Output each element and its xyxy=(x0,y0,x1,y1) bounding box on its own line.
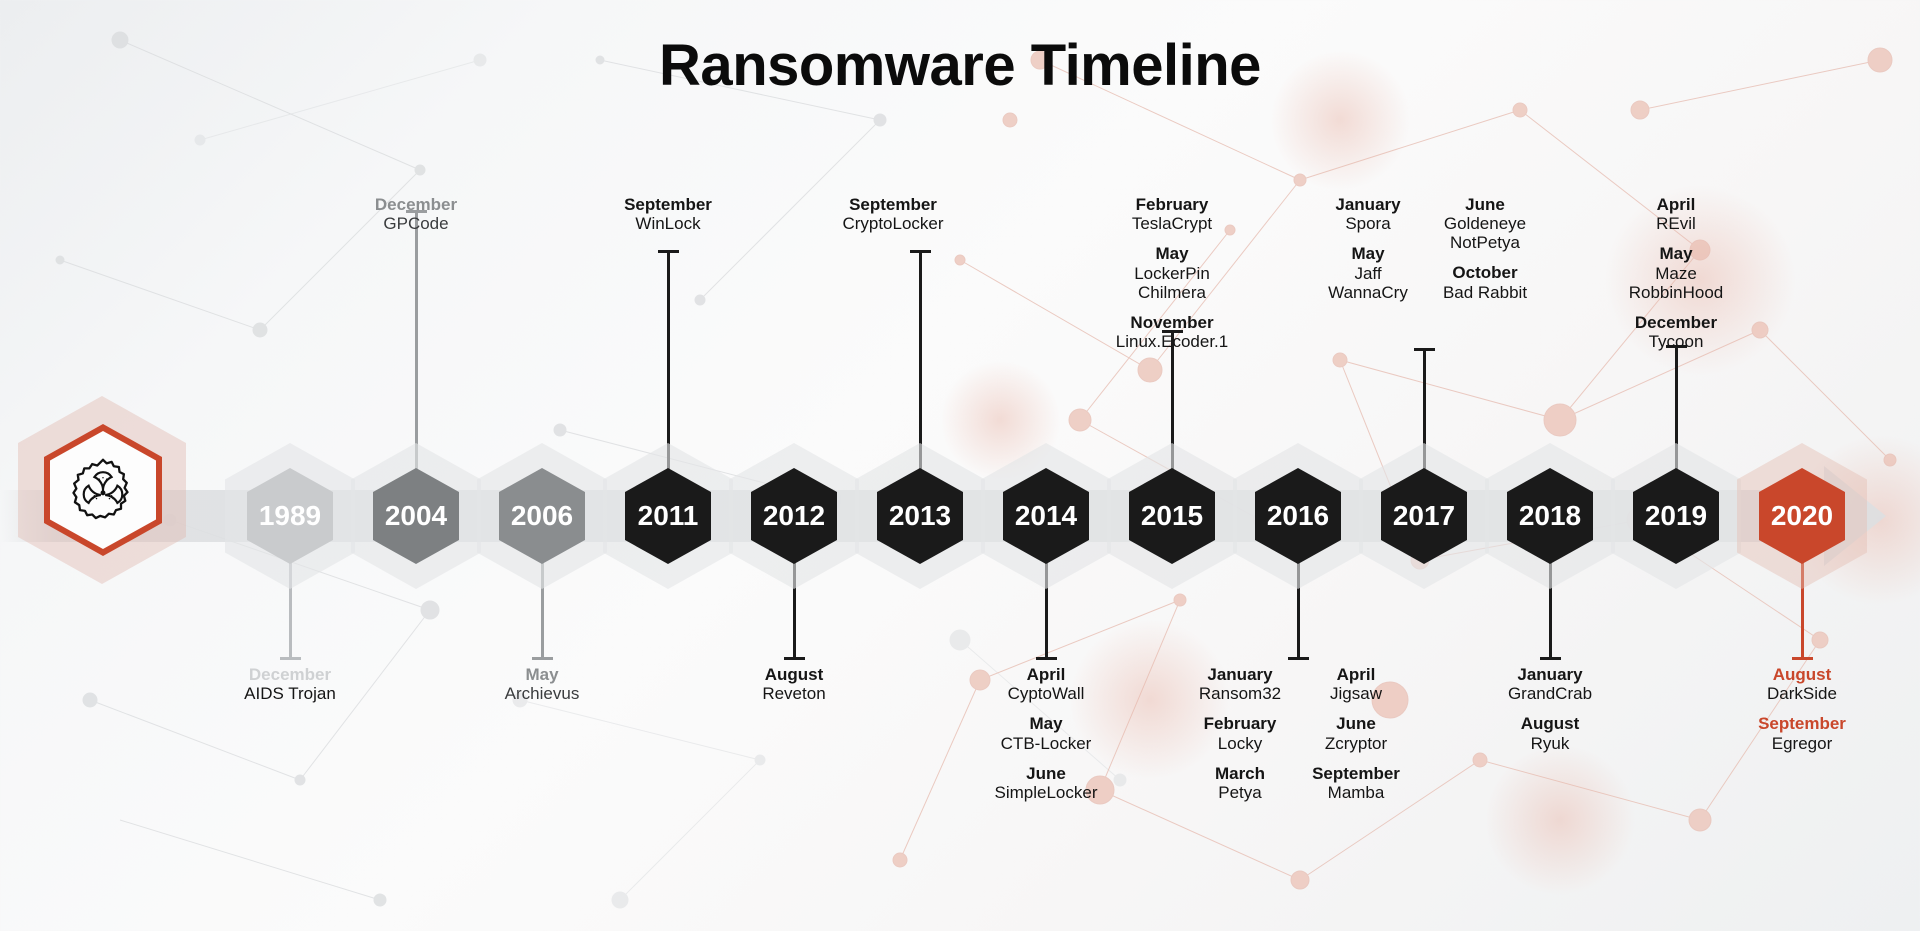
event-name: Egregor xyxy=(1632,734,1920,753)
event-name: DarkSide xyxy=(1632,684,1920,703)
stem-cap-2016 xyxy=(1288,657,1309,660)
year-label-2019: 2019 xyxy=(1645,500,1707,532)
event-month: August xyxy=(1632,666,1920,684)
year-label-2017: 2017 xyxy=(1393,500,1455,532)
year-node-2011[interactable]: 2011 xyxy=(603,443,733,589)
event-entry: NovemberLinux.Ecoder.1 xyxy=(1002,314,1342,351)
year-node-2006[interactable]: 2006 xyxy=(477,443,607,589)
stem-cap-2014 xyxy=(1036,657,1057,660)
year-node-1989[interactable]: 1989 xyxy=(225,443,355,589)
event-name: Maze xyxy=(1506,264,1846,283)
event-entry: AugustDarkSide xyxy=(1632,666,1920,703)
connector-stem-2004 xyxy=(415,210,418,480)
year-label-2006: 2006 xyxy=(511,500,573,532)
event-entry: AprilREvil xyxy=(1506,196,1846,233)
event-entry: MayMazeRobbinHood xyxy=(1506,245,1846,301)
event-entry: SeptemberEgregor xyxy=(1632,715,1920,752)
year-label-2014: 2014 xyxy=(1015,500,1077,532)
event-month: April xyxy=(1506,196,1846,214)
stem-cap-2012 xyxy=(784,657,805,660)
event-entry: SeptemberMamba xyxy=(1186,765,1526,802)
event-month: September xyxy=(1186,765,1526,783)
year-label-2020: 2020 xyxy=(1771,500,1833,532)
year-node-2014[interactable]: 2014 xyxy=(981,443,1111,589)
biohazard-icon xyxy=(67,454,139,526)
stem-cap-2020 xyxy=(1792,657,1813,660)
stem-cap-2018 xyxy=(1540,657,1561,660)
event-entry: DecemberTycoon xyxy=(1506,314,1846,351)
event-name: Linux.Ecoder.1 xyxy=(1002,332,1342,351)
year-label-2013: 2013 xyxy=(889,500,951,532)
event-name: Mamba xyxy=(1186,783,1526,802)
year-label-2015: 2015 xyxy=(1141,500,1203,532)
year-label-2011: 2011 xyxy=(638,500,699,532)
year-node-2013[interactable]: 2013 xyxy=(855,443,985,589)
stem-cap-1989 xyxy=(280,657,301,660)
year-node-2004[interactable]: 2004 xyxy=(351,443,481,589)
year-node-2018[interactable]: 2018 xyxy=(1485,443,1615,589)
year-node-2015[interactable]: 2015 xyxy=(1107,443,1237,589)
event-name: REvil xyxy=(1506,214,1846,233)
year-label-2018: 2018 xyxy=(1519,500,1581,532)
year-label-1989: 1989 xyxy=(259,500,321,532)
year-node-2020[interactable]: 2020 xyxy=(1737,443,1867,589)
event-month: September xyxy=(1632,715,1920,733)
event-group-above-2019: AprilREvilMayMazeRobbinHoodDecemberTycoo… xyxy=(1506,196,1846,351)
year-label-2004: 2004 xyxy=(385,500,447,532)
year-label-2016: 2016 xyxy=(1267,500,1329,532)
year-label-2012: 2012 xyxy=(763,500,825,532)
event-month: November xyxy=(1002,314,1342,332)
event-group-below-2020: AugustDarkSideSeptemberEgregor xyxy=(1632,666,1920,753)
event-month: December xyxy=(1506,314,1846,332)
year-node-2019[interactable]: 2019 xyxy=(1611,443,1741,589)
event-name: RobbinHood xyxy=(1506,283,1846,302)
year-node-2012[interactable]: 2012 xyxy=(729,443,859,589)
stem-cap-2006 xyxy=(532,657,553,660)
year-node-2016[interactable]: 2016 xyxy=(1233,443,1363,589)
page-title: Ransomware Timeline xyxy=(0,32,1920,99)
event-name: Tycoon xyxy=(1506,332,1846,351)
year-node-2017[interactable]: 2017 xyxy=(1359,443,1489,589)
event-month: May xyxy=(1506,245,1846,263)
